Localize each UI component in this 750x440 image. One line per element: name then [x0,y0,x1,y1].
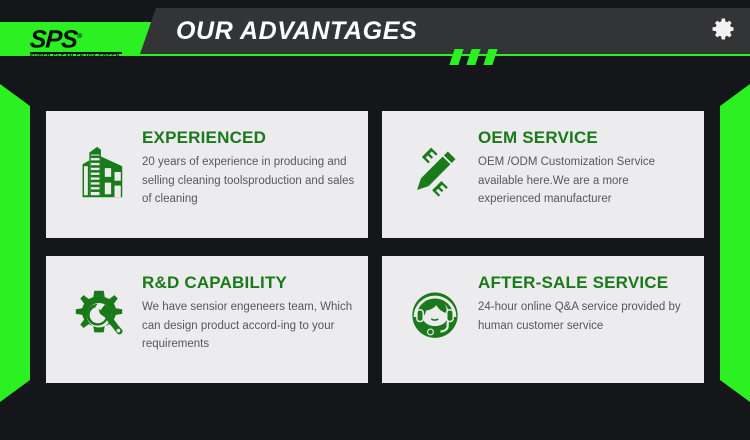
accent-tick [449,49,463,65]
card-title: AFTER-SALE SERVICE [478,274,692,291]
headset-support-icon [396,270,474,360]
card-title: EXPERIENCED [142,129,356,146]
right-accent-bar [720,84,750,402]
card-description: 24-hour online Q&A service provided by h… [478,298,692,335]
card-body: R&D CAPABILITY We have sensior engeneers… [138,270,356,354]
accent-tick [466,49,480,65]
sps-logo: SPS® SUPER CLEAN ENJOY GREEN [30,24,130,58]
card-title: R&D CAPABILITY [142,274,356,291]
logo-wordmark: SPS® [29,24,131,52]
factory-building-icon [60,125,138,215]
left-accent-bar [0,84,30,402]
card-description: 20 years of experience in producing and … [142,153,356,209]
page-title: OUR ADVANTAGES [176,17,417,46]
advantage-card-oem-service[interactable]: OEM SERVICE OEM /ODM Customization Servi… [382,111,704,238]
header-accent-ticks [452,49,572,65]
advantages-grid: EXPERIENCED 20 years of experience in pr… [46,111,704,383]
card-body: OEM SERVICE OEM /ODM Customization Servi… [474,125,692,209]
settings-button[interactable] [706,12,740,46]
gear-wrench-icon [60,270,138,360]
card-title: OEM SERVICE [478,129,692,146]
accent-tick [483,49,497,65]
advantage-card-rd-capability[interactable]: R&D CAPABILITY We have sensior engeneers… [46,256,368,383]
card-description: We have sensior engeneers team, Which ca… [142,298,356,354]
card-body: EXPERIENCED 20 years of experience in pr… [138,125,356,209]
card-description: OEM /ODM Customization Service available… [478,153,692,209]
header: SPS® SUPER CLEAN ENJOY GREEN OUR ADVANTA… [0,0,750,62]
card-body: AFTER-SALE SERVICE 24-hour online Q&A se… [474,270,692,335]
pencil-ruler-icon [396,125,474,215]
gear-icon [709,15,737,43]
advantage-card-after-sale-service[interactable]: AFTER-SALE SERVICE 24-hour online Q&A se… [382,256,704,383]
registered-trademark-icon: ® [77,33,82,40]
advantage-card-experienced[interactable]: EXPERIENCED 20 years of experience in pr… [46,111,368,238]
logo-tagline: SUPER CLEAN ENJOY GREEN [30,54,130,61]
advantages-banner: SPS® SUPER CLEAN ENJOY GREEN OUR ADVANTA… [0,0,750,440]
